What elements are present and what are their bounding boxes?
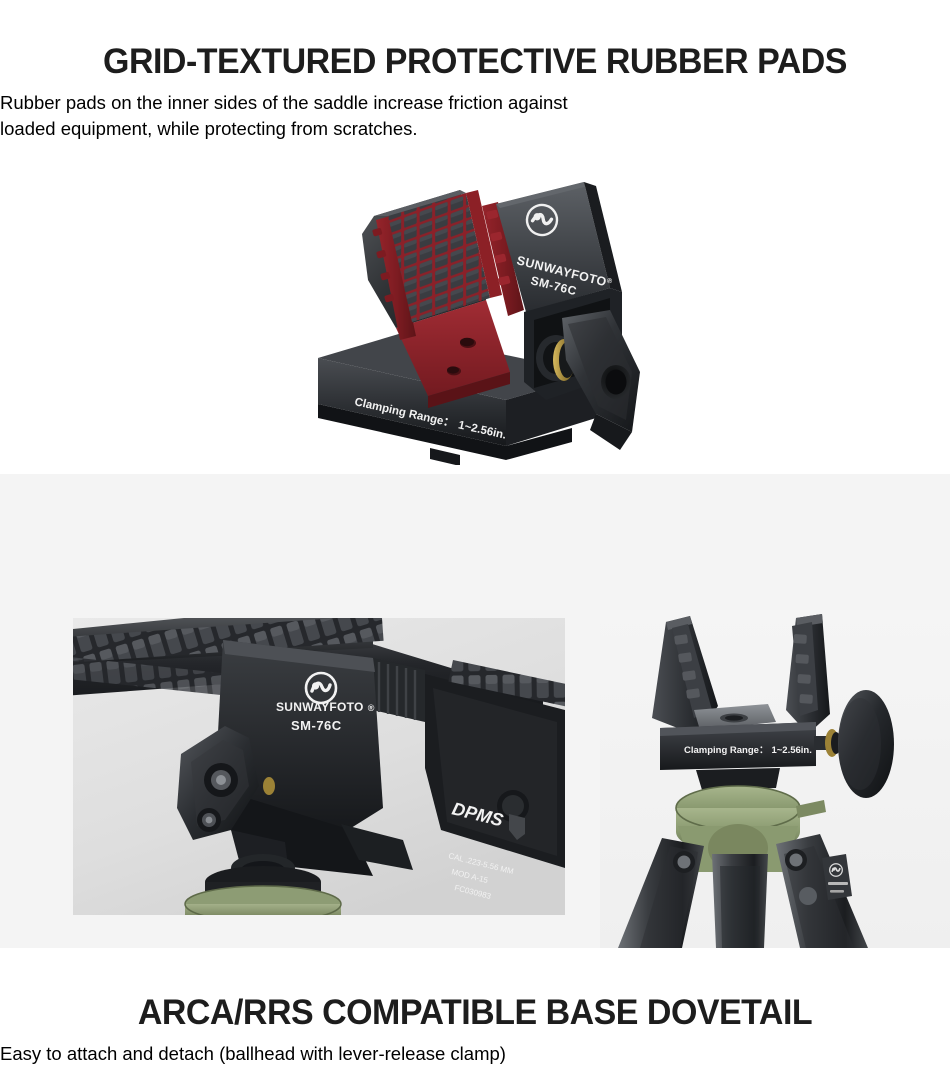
section-heading-rubber-pads: GRID-TEXTURED PROTECTIVE RUBBER PADS	[14, 42, 936, 82]
section-subheading-dovetail: Easy to attach and detach (ballhead with…	[0, 1041, 950, 1067]
engraving-clamping-range: Clamping Range：1~2.56in.	[684, 745, 812, 756]
section-rubber-pads: GRID-TEXTURED PROTECTIVE RUBBER PADS Rub…	[0, 0, 950, 474]
product-image-saddle-clamp: Clamping Range：1~2.56in.	[310, 160, 650, 465]
subheading-line-1: Easy to attach and detach (ballhead with…	[0, 1041, 950, 1067]
section-heading-dovetail: ARCA/RRS COMPATIBLE BASE DOVETAIL	[14, 993, 936, 1033]
brand-wordmark: SUNWAYFOTO®	[276, 700, 375, 714]
subheading-line-1: Rubber pads on the inner sides of the sa…	[0, 90, 950, 116]
section-subheading-rubber-pads: Rubber pads on the inner sides of the sa…	[0, 90, 950, 142]
model-number: SM-76C	[291, 718, 342, 733]
photo-clamp-on-tripod: Clamping Range：1~2.56in.	[600, 610, 950, 948]
photo-rifle-on-clamp: DPMS CAL .223-5.56 MM MOD A-15 FC030983 …	[73, 618, 565, 915]
clamp-right-jaw	[786, 614, 830, 734]
subheading-line-2: loaded equipment, while protecting from …	[0, 116, 950, 142]
